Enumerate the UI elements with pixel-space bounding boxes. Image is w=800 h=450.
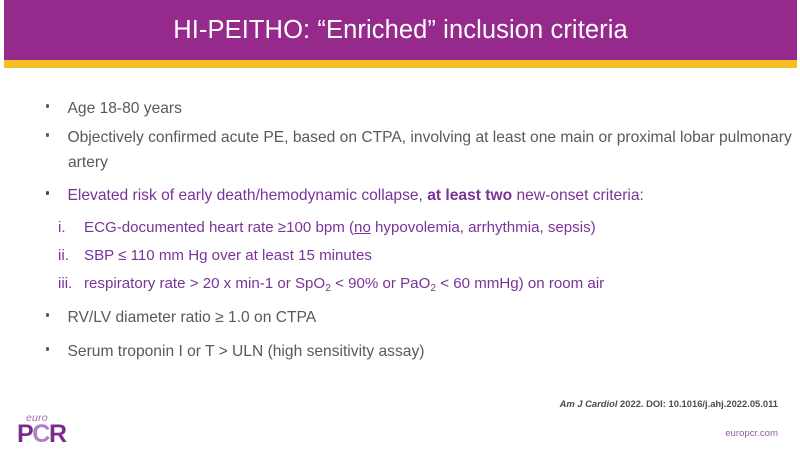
bullet-dot-icon [46,191,49,194]
bullet-text-after-bold: new-onset criteria: [512,187,644,204]
slide-body: Age 18-80 years Objectively confirmed ac… [0,96,800,368]
europcr-logo: euro PCR [17,412,107,446]
bullet-label: Serum troponin I or T > ULN (high sensit… [68,339,792,364]
sub-item-marker: i. [58,215,84,240]
sub-item-respiratory-rate: iii. respiratory rate > 20 x min-1 or Sp… [0,271,800,296]
sub-item-ecg-heart-rate: i. ECG-documented heart rate ≥100 bpm (n… [0,215,800,240]
header-accent-stripe [4,60,797,68]
logo-letter-p: P [17,420,32,448]
sub-item-marker: iii. [58,271,84,296]
citation: Am J Cardiol 2022. DOI: 10.1016/j.ahj.20… [560,398,778,410]
bullet-item-troponin: Serum troponin I or T > ULN (high sensit… [0,339,800,364]
bullet-item-elevated-risk: Elevated risk of early death/hemodynamic… [0,183,800,208]
bullet-item-age: Age 18-80 years [0,96,800,121]
sub-text-part1: ECG-documented heart rate ≥100 bpm ( [84,219,354,236]
bullet-dot-icon [46,133,49,136]
page-title: HI-PEITHO: “Enriched” inclusion criteria [4,0,797,60]
bullet-dot-icon [46,104,49,107]
logo-letter-r: R [49,420,66,448]
logo-letter-c: C [32,420,49,448]
sub-item-label: ECG-documented heart rate ≥100 bpm (no h… [84,215,792,240]
bullet-label: Age 18-80 years [68,96,792,121]
sub-item-label: respiratory rate > 20 x min-1 or SpO2 < … [84,271,792,296]
bullet-text-before-bold: Elevated risk of early death/hemodynamic… [68,187,428,204]
bullet-label: Objectively confirmed acute PE, based on… [68,125,792,175]
slide: HI-PEITHO: “Enriched” inclusion criteria… [0,0,800,450]
slide-header-bar: HI-PEITHO: “Enriched” inclusion criteria [4,0,797,60]
bullet-label: RV/LV diameter ratio ≥ 1.0 on CTPA [68,305,792,330]
citation-journal: Am J Cardiol [560,398,618,409]
bullet-dot-icon [46,313,49,316]
website-link[interactable]: europcr.com [725,428,778,439]
sub-text-part1: respiratory rate > 20 x min-1 or SpO [84,275,325,292]
sub-text-part2: hypovolemia, arrhythmia, sepsis) [371,219,596,236]
sub-text-part2: < 90% or PaO [331,275,430,292]
bullet-dot-icon [46,347,49,350]
sub-item-marker: ii. [58,243,84,268]
sub-item-sbp: ii. SBP ≤ 110 mm Hg over at least 15 min… [0,243,800,268]
bullet-item-confirmed-pe: Objectively confirmed acute PE, based on… [0,125,800,175]
bullet-emphasis: at least two [427,187,512,204]
citation-details: 2022. DOI: 10.1016/j.ahj.2022.05.011 [617,398,778,409]
bullet-label: Elevated risk of early death/hemodynamic… [68,183,792,208]
sub-item-label: SBP ≤ 110 mm Hg over at least 15 minutes [84,243,792,268]
logo-pcr-text: PCR [17,422,66,447]
sub-text-underlined: no [354,219,371,236]
sub-text-part3: < 60 mmHg) on room air [436,275,604,292]
bullet-item-rvlv-ratio: RV/LV diameter ratio ≥ 1.0 on CTPA [0,305,800,330]
